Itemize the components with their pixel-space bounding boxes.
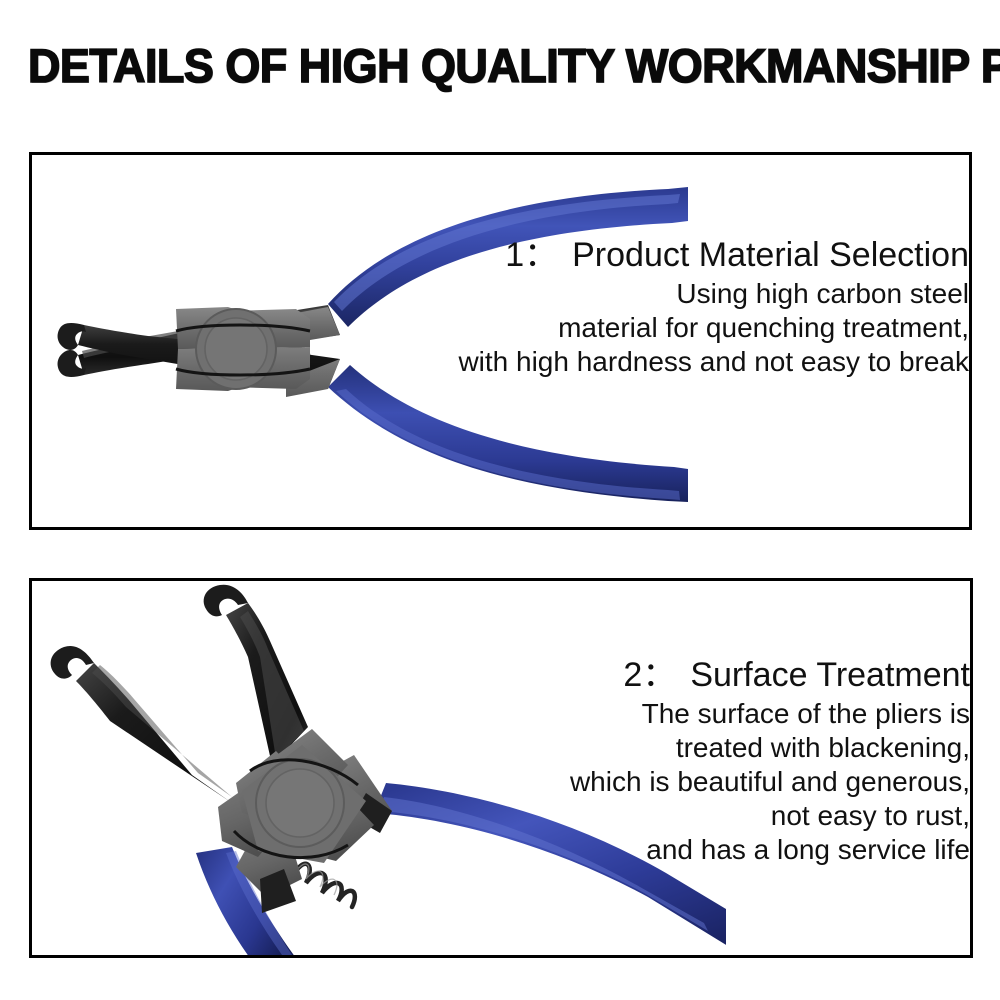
lower-handle-grip — [328, 365, 688, 502]
pivot-upper-plate — [176, 307, 242, 349]
page-title: DETAILS OF HIGH QUALITY WORKMANSHIP PROD… — [28, 40, 976, 90]
upper-jaw-tip-2 — [204, 585, 248, 617]
lower-handle-grip-2 — [196, 847, 298, 958]
coil-spring-highlight — [292, 330, 307, 383]
pivot-seam-upper — [176, 325, 310, 331]
lower-jaw-tip — [58, 323, 86, 350]
pivot-upper-plate-2 — [266, 729, 348, 805]
panel-2-body-line-1: The surface of the pliers is — [340, 697, 970, 731]
coil-spring-2 — [292, 864, 355, 907]
panel-1-body-line-1: Using high carbon steel — [349, 277, 969, 311]
panel-2-heading: 2：Surface Treatment — [340, 653, 970, 697]
panel-1-body-line-3: with high hardness and not easy to break — [349, 345, 969, 379]
pivot-seam-lower-2 — [234, 831, 348, 858]
panel-1-text: 1：Product Material Selection Using high … — [349, 233, 969, 379]
panel-2-heading-title: Surface Treatment — [690, 656, 970, 694]
pivot-lower-wing-2 — [236, 833, 302, 897]
panel-2-text: 2：Surface Treatment The surface of the p… — [340, 653, 970, 867]
panel-1-body-line-2: material for quenching treatment, — [349, 311, 969, 345]
panel-1-heading-title: Product Material Selection — [572, 236, 969, 274]
panel-1-heading-number: 1 — [505, 236, 524, 274]
panel-2-body-line-3: which is beautiful and generous, — [340, 765, 970, 799]
upper-jaw-arm-2 — [226, 603, 308, 765]
page-title-text: DETAILS OF HIGH QUALITY WORKMANSHIP PROD… — [28, 42, 1000, 89]
panel-2-heading-separator: ： — [642, 656, 676, 694]
pivot-seam-lower — [176, 369, 310, 375]
lower-handle-highlight-2 — [226, 851, 292, 955]
lower-jaw-arm-2 — [76, 663, 232, 803]
pivot-right-upper-wing — [228, 309, 310, 349]
pivot-boss-inner-2 — [266, 769, 334, 837]
pivot-lower-plate — [176, 347, 242, 391]
pivot-boss-inner — [205, 318, 267, 380]
lower-jaw-highlight-2 — [92, 665, 232, 797]
panel-2-heading-number: 2 — [623, 656, 642, 694]
panel-1-heading-separator: ： — [524, 236, 558, 274]
panel-2-body-line-4: not easy to rust, — [340, 799, 970, 833]
upper-jaw-arm — [78, 305, 340, 375]
infographic-page: DETAILS OF HIGH QUALITY WORKMANSHIP PROD… — [0, 0, 1000, 1000]
upper-jaw-tip — [58, 350, 86, 377]
panel-2-body-line-5: and has a long service life — [340, 833, 970, 867]
feature-panel-1: 1：Product Material Selection Using high … — [29, 152, 972, 530]
pivot-boss-outer — [196, 309, 276, 389]
pivot-right-lower-wing — [228, 347, 310, 389]
lower-handle-ferrule-2 — [260, 869, 296, 913]
right-upper-gray-plate — [286, 307, 340, 341]
lower-jaw-tip-2 — [51, 646, 94, 679]
coil-spring — [290, 332, 308, 385]
upper-jaw-highlight-2 — [240, 611, 304, 759]
coil-spring-highlight-2 — [294, 864, 337, 895]
pivot-lower-plate-2 — [218, 779, 290, 857]
panel-2-body-line-2: treated with blackening, — [340, 731, 970, 765]
right-lower-gray-plate — [286, 359, 340, 397]
lower-jaw-arm — [78, 325, 340, 389]
feature-panel-2: 2：Surface Treatment The surface of the p… — [29, 578, 973, 958]
upper-jaw-highlight — [82, 307, 329, 358]
pivot-boss-outer-2 — [256, 759, 344, 847]
pivot-left-upper-wing-2 — [236, 751, 308, 823]
lower-handle-highlight — [336, 389, 680, 500]
panel-1-heading: 1：Product Material Selection — [349, 233, 969, 277]
